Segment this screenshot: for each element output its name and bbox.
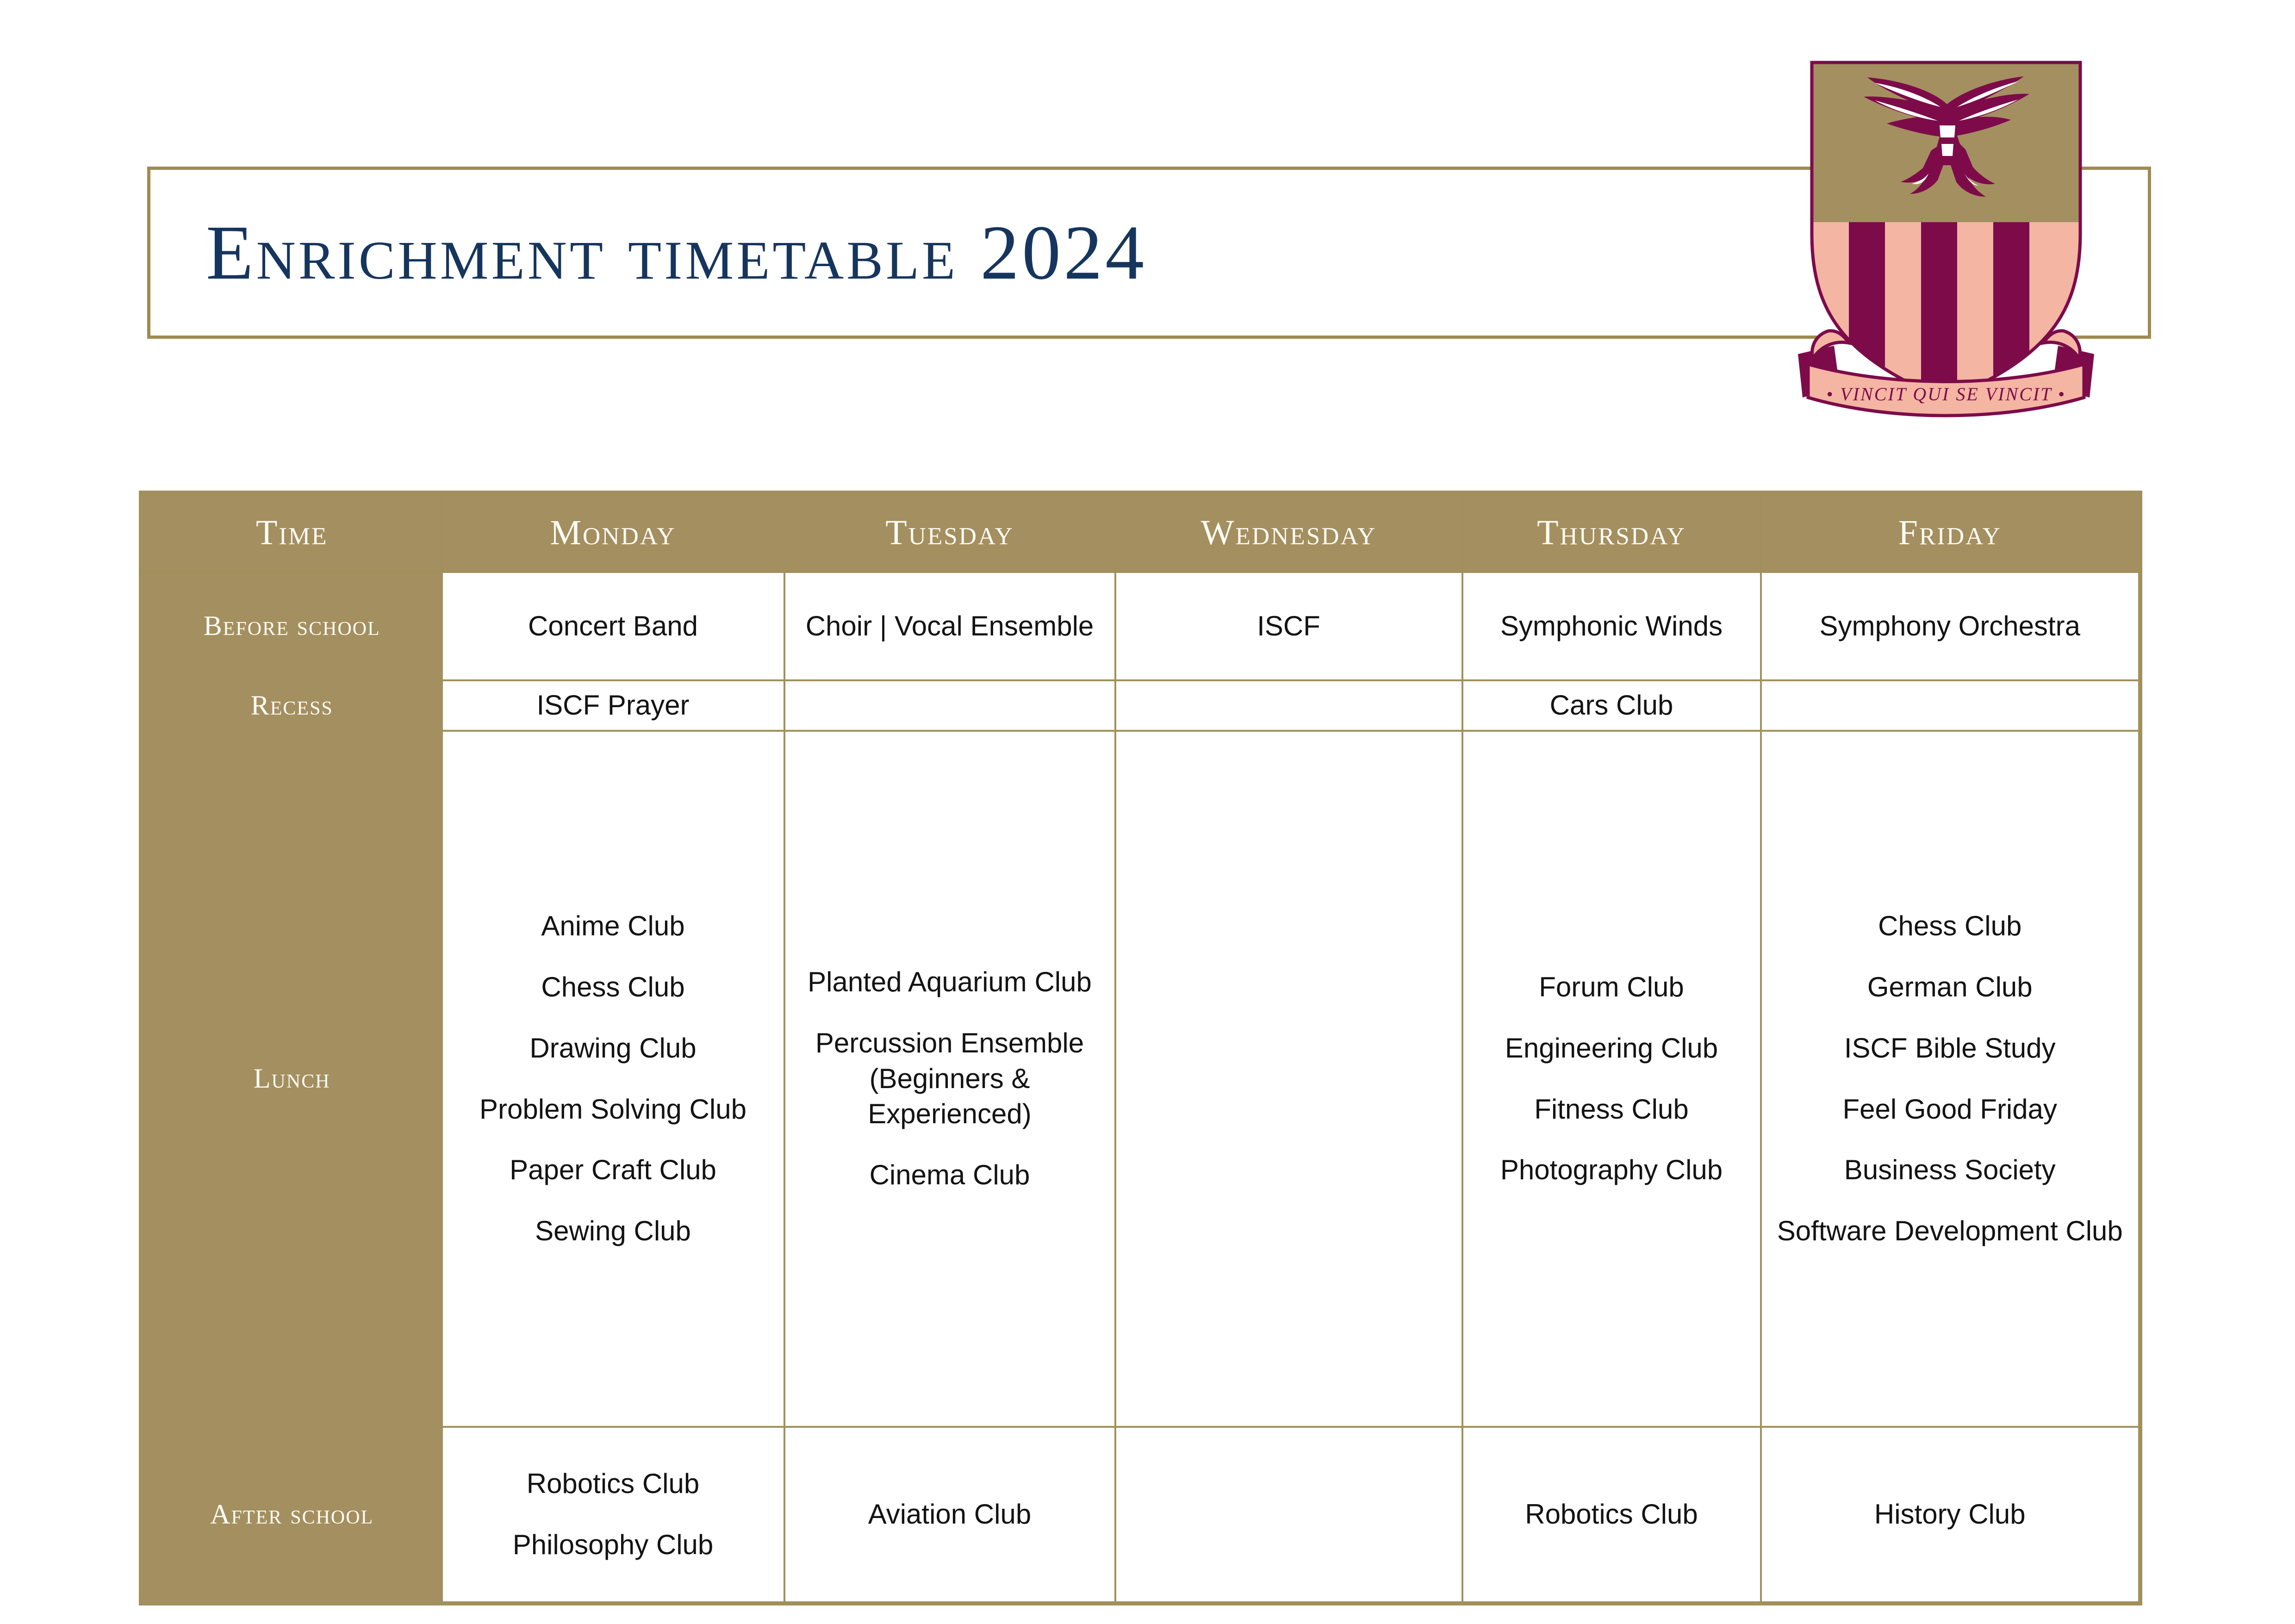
cell-friday-recess	[1761, 680, 2140, 731]
cell-thursday-after-school: Robotics Club	[1462, 1427, 1761, 1604]
cell-wednesday-lunch	[1115, 731, 1462, 1427]
activity-entry: Percussion Ensemble (Beginners & Experie…	[785, 1026, 1114, 1132]
activity-entry: Problem Solving Club	[443, 1092, 784, 1127]
crest-motto-text: • VINCIT QUI SE VINCIT •	[1826, 384, 2065, 404]
cell-friday-after-school: History Club	[1761, 1427, 2140, 1604]
column-header-wednesday: Wednesday	[1115, 493, 1462, 572]
page-header: Enrichment timetable 2024	[0, 0, 2295, 463]
activity-entry: Engineering Club	[1463, 1031, 1760, 1066]
school-crest-icon: • VINCIT QUI SE VINCIT •	[1784, 35, 2108, 433]
cell-monday-after-school: Robotics ClubPhilosophy Club	[442, 1427, 784, 1604]
table-row: After school Robotics ClubPhilosophy Clu…	[141, 1427, 2140, 1604]
activity-entry: Symphony Orchestra	[1762, 609, 2139, 644]
activity-entry: Drawing Club	[443, 1031, 784, 1066]
column-header-thursday: Thursday	[1462, 493, 1761, 572]
activity-entry: ISCF Prayer	[443, 688, 784, 723]
activity-entry: Choir | Vocal Ensemble	[785, 609, 1114, 644]
activity-entry: Cinema Club	[785, 1157, 1114, 1193]
cell-tuesday-before-school: Choir | Vocal Ensemble	[784, 572, 1115, 680]
activity-entry: Business Society	[1762, 1152, 2139, 1188]
activity-entry: Sewing Club	[443, 1213, 784, 1249]
table-row: Before school Concert Band Choir | Vocal…	[141, 572, 2140, 680]
table-body: Before school Concert Band Choir | Vocal…	[141, 572, 2140, 1604]
cell-tuesday-lunch: Planted Aquarium ClubPercussion Ensemble…	[784, 731, 1115, 1427]
table-header-row: Time Monday Tuesday Wednesday Thursday F…	[141, 493, 2140, 572]
cell-monday-lunch: Anime ClubChess ClubDrawing ClubProblem …	[442, 731, 784, 1427]
activity-entry: Fitness Club	[1463, 1092, 1760, 1127]
table-row: Lunch Anime ClubChess ClubDrawing ClubPr…	[141, 731, 2140, 1427]
enrichment-timetable: Time Monday Tuesday Wednesday Thursday F…	[139, 491, 2142, 1605]
activity-entry: Feel Good Friday	[1762, 1092, 2139, 1127]
column-header-time: Time	[141, 493, 442, 572]
activity-entry: Planted Aquarium Club	[785, 964, 1114, 1000]
cell-friday-before-school: Symphony Orchestra	[1761, 572, 2140, 680]
activity-entry: ISCF	[1116, 609, 1462, 644]
activity-entry: Robotics Club	[1463, 1497, 1760, 1532]
activity-entry: Concert Band	[443, 609, 784, 644]
activity-entry: Forum Club	[1463, 970, 1760, 1005]
activity-entry: Paper Craft Club	[443, 1152, 784, 1188]
cell-monday-recess: ISCF Prayer	[442, 680, 784, 731]
page-title: Enrichment timetable 2024	[206, 214, 1147, 292]
activity-entry: Anime Club	[443, 908, 784, 944]
cell-wednesday-before-school: ISCF	[1115, 572, 1462, 680]
activity-entry: Software Development Club	[1762, 1213, 2139, 1249]
time-label-before-school: Before school	[141, 572, 442, 680]
cell-thursday-before-school: Symphonic Winds	[1462, 572, 1761, 680]
activity-entry: ISCF Bible Study	[1762, 1031, 2139, 1066]
time-label-recess: Recess	[141, 680, 442, 731]
activity-entry: Symphonic Winds	[1463, 609, 1760, 644]
activity-entry: Chess Club	[1762, 908, 2139, 944]
activity-entry: Cars Club	[1463, 688, 1760, 723]
cell-thursday-lunch: Forum ClubEngineering ClubFitness ClubPh…	[1462, 731, 1761, 1427]
cell-wednesday-after-school	[1115, 1427, 1462, 1604]
column-header-friday: Friday	[1761, 493, 2140, 572]
cell-thursday-recess: Cars Club	[1462, 680, 1761, 731]
activity-entry: Philosophy Club	[443, 1527, 784, 1563]
time-label-after-school: After school	[141, 1427, 442, 1604]
cell-wednesday-recess	[1115, 680, 1462, 731]
cell-tuesday-after-school: Aviation Club	[784, 1427, 1115, 1604]
activity-entry: Robotics Club	[443, 1466, 784, 1502]
cell-tuesday-recess	[784, 680, 1115, 731]
activity-entry: History Club	[1762, 1497, 2139, 1532]
table-row: Recess ISCF Prayer Cars Club	[141, 680, 2140, 731]
activity-entry: Photography Club	[1463, 1152, 1760, 1188]
cell-friday-lunch: Chess ClubGerman ClubISCF Bible StudyFee…	[1761, 731, 2140, 1427]
activity-entry: Chess Club	[443, 970, 784, 1005]
column-header-tuesday: Tuesday	[784, 493, 1115, 572]
activity-entry: Aviation Club	[785, 1497, 1114, 1532]
column-header-monday: Monday	[442, 493, 784, 572]
time-label-lunch: Lunch	[141, 731, 442, 1427]
cell-monday-before-school: Concert Band	[442, 572, 784, 680]
activity-entry: German Club	[1762, 970, 2139, 1005]
